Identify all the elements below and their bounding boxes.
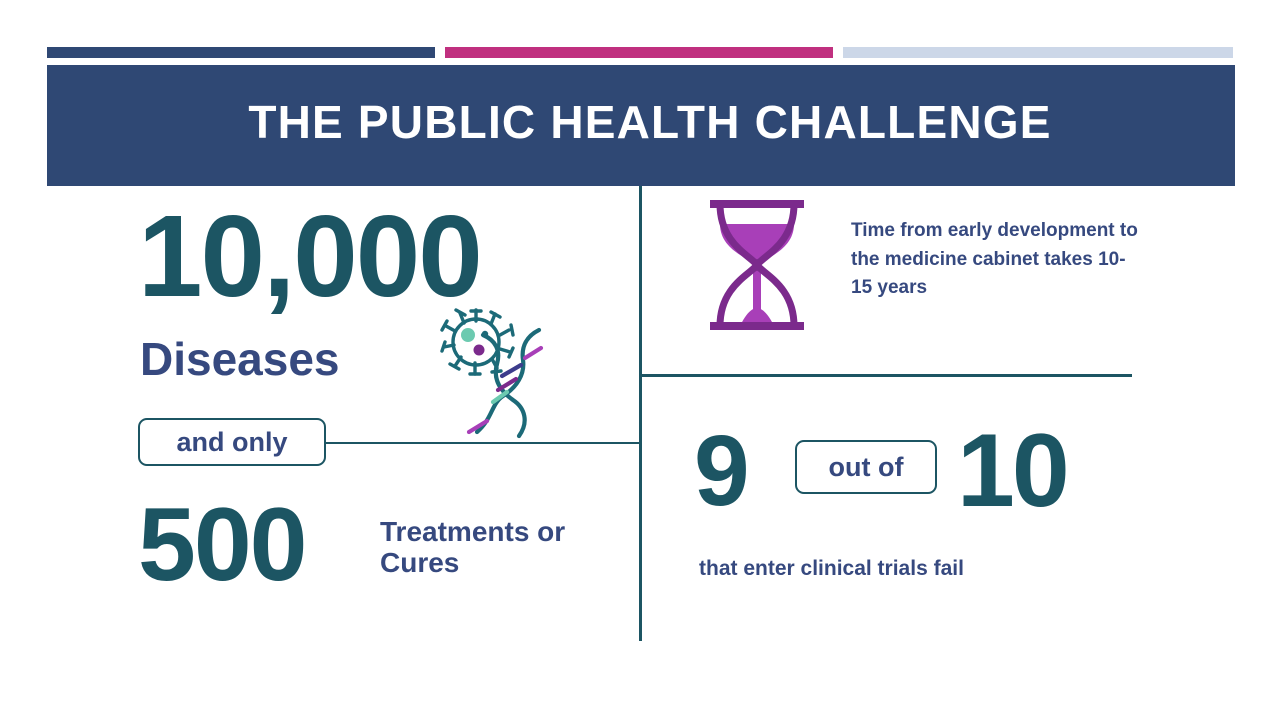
stat-diseases-label: Diseases (140, 334, 340, 386)
accent-bar-pale-blue (843, 47, 1233, 58)
stat-treatments-number: 500 (138, 493, 306, 597)
divider-horizontal-left (325, 442, 641, 444)
out-of-label: out of (829, 452, 904, 483)
and-only-label: and only (176, 427, 287, 458)
divider-horizontal-right (640, 374, 1132, 377)
failure-stat-denominator: 10 (957, 419, 1067, 523)
and-only-pill: and only (138, 418, 326, 466)
page-title: THE PUBLIC HEALTH CHALLENGE (200, 95, 1100, 149)
failure-stat-numerator: 9 (694, 421, 750, 521)
virus-dna-icon (433, 300, 583, 440)
hourglass-icon (703, 192, 811, 338)
stat-diseases-number: 10,000 (138, 198, 481, 314)
accent-bar-navy (47, 47, 435, 58)
failure-stat-caption: that enter clinical trials fail (699, 557, 964, 581)
out-of-pill: out of (795, 440, 937, 494)
timeline-description: Time from early development to the medic… (851, 217, 1141, 303)
divider-vertical-center (639, 186, 642, 641)
header-banner: THE PUBLIC HEALTH CHALLENGE (47, 65, 1235, 186)
stat-treatments-label: Treatments or Cures (380, 516, 600, 579)
accent-bar-pink (445, 47, 833, 58)
